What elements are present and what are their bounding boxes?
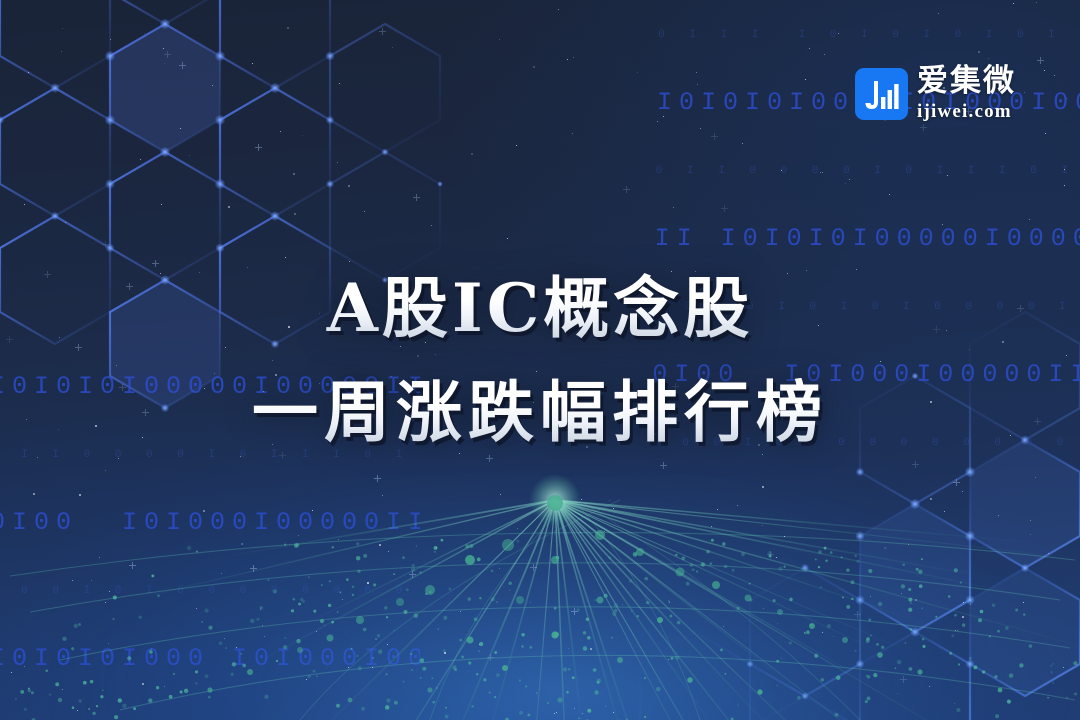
bar-chart-j-icon bbox=[855, 68, 908, 120]
binary-row: 0 I I 0 0 0 0 I 0 I I I 0 I I I I 0 0 I … bbox=[656, 160, 1080, 182]
star-dot bbox=[496, 601, 498, 603]
star-dot bbox=[392, 47, 393, 48]
star-dot bbox=[280, 131, 281, 132]
sparkle-icon bbox=[571, 608, 578, 615]
star-dot bbox=[929, 686, 930, 687]
star-dot bbox=[717, 509, 718, 510]
star-dot bbox=[737, 505, 738, 506]
binary-row: I0I0I0I000 I0I000I00000II I0I I bbox=[0, 638, 420, 680]
star-dot bbox=[294, 213, 296, 215]
star-dot bbox=[161, 204, 162, 205]
star-dot bbox=[1048, 553, 1049, 554]
star-dot bbox=[763, 608, 764, 609]
brand-name-cn: 爱集微 bbox=[917, 66, 1016, 97]
star-dot bbox=[930, 498, 932, 500]
star-dot bbox=[723, 626, 724, 627]
star-dot bbox=[65, 222, 66, 223]
star-dot bbox=[460, 611, 461, 612]
star-dot bbox=[348, 185, 350, 187]
star-dot bbox=[499, 568, 500, 569]
star-dot bbox=[590, 648, 592, 650]
star-dot bbox=[581, 499, 582, 500]
sparkle-icon bbox=[900, 676, 907, 683]
star-dot bbox=[970, 604, 971, 605]
star-dot bbox=[558, 9, 559, 10]
star-dot bbox=[998, 515, 999, 516]
site-logo[interactable]: 爱集微 ijiwei.com bbox=[855, 66, 1016, 121]
poster-canvas: 0 I I I I 0 I 0 I 0 I 0 I 0 0 0 0 I 0 0 … bbox=[0, 0, 1080, 720]
star-dot bbox=[509, 590, 510, 591]
sparkle-icon bbox=[179, 62, 186, 69]
star-dot bbox=[609, 500, 610, 501]
star-dot bbox=[915, 599, 917, 601]
star-dot bbox=[144, 33, 145, 34]
star-dot bbox=[574, 708, 575, 709]
star-dot bbox=[554, 534, 555, 535]
star-dot bbox=[1030, 534, 1031, 535]
star-dot bbox=[479, 644, 480, 645]
star-dot bbox=[573, 57, 574, 58]
logo-text-block: 爱集微 ijiwei.com bbox=[917, 66, 1016, 121]
star-dot bbox=[164, 63, 165, 64]
sparkle-icon bbox=[530, 564, 537, 571]
star-dot bbox=[339, 83, 340, 84]
star-dot bbox=[364, 211, 365, 212]
star-dot bbox=[431, 225, 432, 226]
star-dot bbox=[1035, 477, 1036, 478]
star-dot bbox=[572, 133, 573, 134]
star-dot bbox=[61, 51, 62, 52]
star-dot bbox=[533, 66, 535, 68]
sparkle-icon bbox=[164, 51, 171, 58]
star-dot bbox=[499, 39, 500, 40]
star-dot bbox=[517, 528, 518, 529]
star-dot bbox=[302, 135, 303, 136]
sparkle-icon bbox=[623, 186, 630, 193]
star-dot bbox=[668, 659, 669, 660]
star-dot bbox=[530, 602, 531, 603]
star-dot bbox=[252, 63, 253, 64]
sparkle-icon bbox=[854, 611, 861, 618]
brand-domain: ijiwei.com bbox=[917, 102, 1016, 121]
star-dot bbox=[163, 48, 164, 49]
star-dot bbox=[897, 693, 898, 694]
star-dot bbox=[24, 204, 25, 205]
star-dot bbox=[212, 85, 213, 86]
star-dot bbox=[669, 602, 670, 603]
star-dot bbox=[833, 636, 834, 637]
star-dot bbox=[963, 602, 964, 603]
star-dot bbox=[436, 687, 438, 689]
binary-row: 0 I I I I 0 I 0 I 0 I 0 I 0 0 0 0 I 0 0 … bbox=[658, 24, 1080, 46]
star-dot bbox=[337, 162, 338, 163]
star-dot bbox=[180, 128, 181, 129]
star-dot bbox=[776, 557, 777, 558]
sparkle-icon bbox=[767, 551, 774, 558]
star-dot bbox=[287, 27, 289, 29]
star-dot bbox=[954, 703, 955, 704]
sparkle-icon bbox=[102, 241, 109, 248]
star-dot bbox=[471, 153, 473, 155]
sparkle-icon bbox=[255, 144, 262, 151]
sparkle-icon bbox=[413, 194, 420, 201]
star-dot bbox=[500, 494, 501, 495]
star-dot bbox=[962, 616, 964, 618]
star-dot bbox=[189, 155, 190, 156]
star-dot bbox=[580, 532, 581, 533]
star-dot bbox=[436, 547, 437, 548]
star-dot bbox=[554, 713, 555, 714]
star-dot bbox=[507, 238, 508, 239]
star-dot bbox=[62, 28, 63, 29]
star-dot bbox=[777, 623, 778, 624]
star-dot bbox=[762, 486, 764, 488]
sparkle-icon bbox=[487, 654, 494, 661]
star-dot bbox=[293, 173, 295, 175]
star-dot bbox=[1063, 667, 1064, 668]
star-dot bbox=[962, 491, 963, 492]
binary-row: II I0I0I0I00000I0000II0 bbox=[654, 218, 1080, 260]
title-line-2: 一周涨跌幅排行榜 bbox=[0, 360, 1080, 464]
page-title: A股IC概念股 一周涨跌幅排行榜 bbox=[0, 256, 1080, 464]
star-dot bbox=[516, 145, 517, 146]
star-dot bbox=[955, 630, 956, 631]
star-dot bbox=[444, 652, 446, 654]
star-dot bbox=[582, 713, 583, 714]
title-line-1: A股IC概念股 bbox=[0, 256, 1080, 360]
star-dot bbox=[637, 72, 638, 73]
star-dot bbox=[568, 648, 569, 649]
star-dot bbox=[822, 632, 823, 633]
star-dot bbox=[944, 511, 945, 512]
binary-row: 0 I I I I 0 I 0 I 0 I 0 I 0 0 0 0 I 0 0 … bbox=[0, 716, 420, 720]
star-dot bbox=[784, 536, 785, 537]
star-dot bbox=[140, 159, 141, 160]
star-dot bbox=[622, 604, 623, 605]
binary-row: I 0 0 I 0 I 0 0 0 0 0 0 0 0 I 0 0 0 0 I … bbox=[0, 580, 420, 602]
star-dot bbox=[567, 59, 568, 60]
star-dot bbox=[613, 508, 614, 509]
binary-row: 0I00 I0I000I00000III0IIII00 bbox=[0, 502, 420, 544]
star-dot bbox=[110, 39, 111, 40]
sparkle-icon bbox=[379, 28, 386, 35]
star-dot bbox=[28, 72, 29, 73]
star-dot bbox=[556, 712, 557, 713]
star-dot bbox=[901, 593, 902, 594]
star-dot bbox=[908, 544, 909, 545]
star-dot bbox=[1030, 520, 1031, 521]
star-dot bbox=[1023, 602, 1024, 603]
star-dot bbox=[762, 525, 763, 526]
star-dot bbox=[613, 712, 614, 713]
star-dot bbox=[711, 526, 712, 527]
star-dot bbox=[870, 596, 871, 597]
sparkle-icon bbox=[953, 479, 960, 486]
star-dot bbox=[604, 531, 605, 532]
star-dot bbox=[228, 206, 230, 208]
